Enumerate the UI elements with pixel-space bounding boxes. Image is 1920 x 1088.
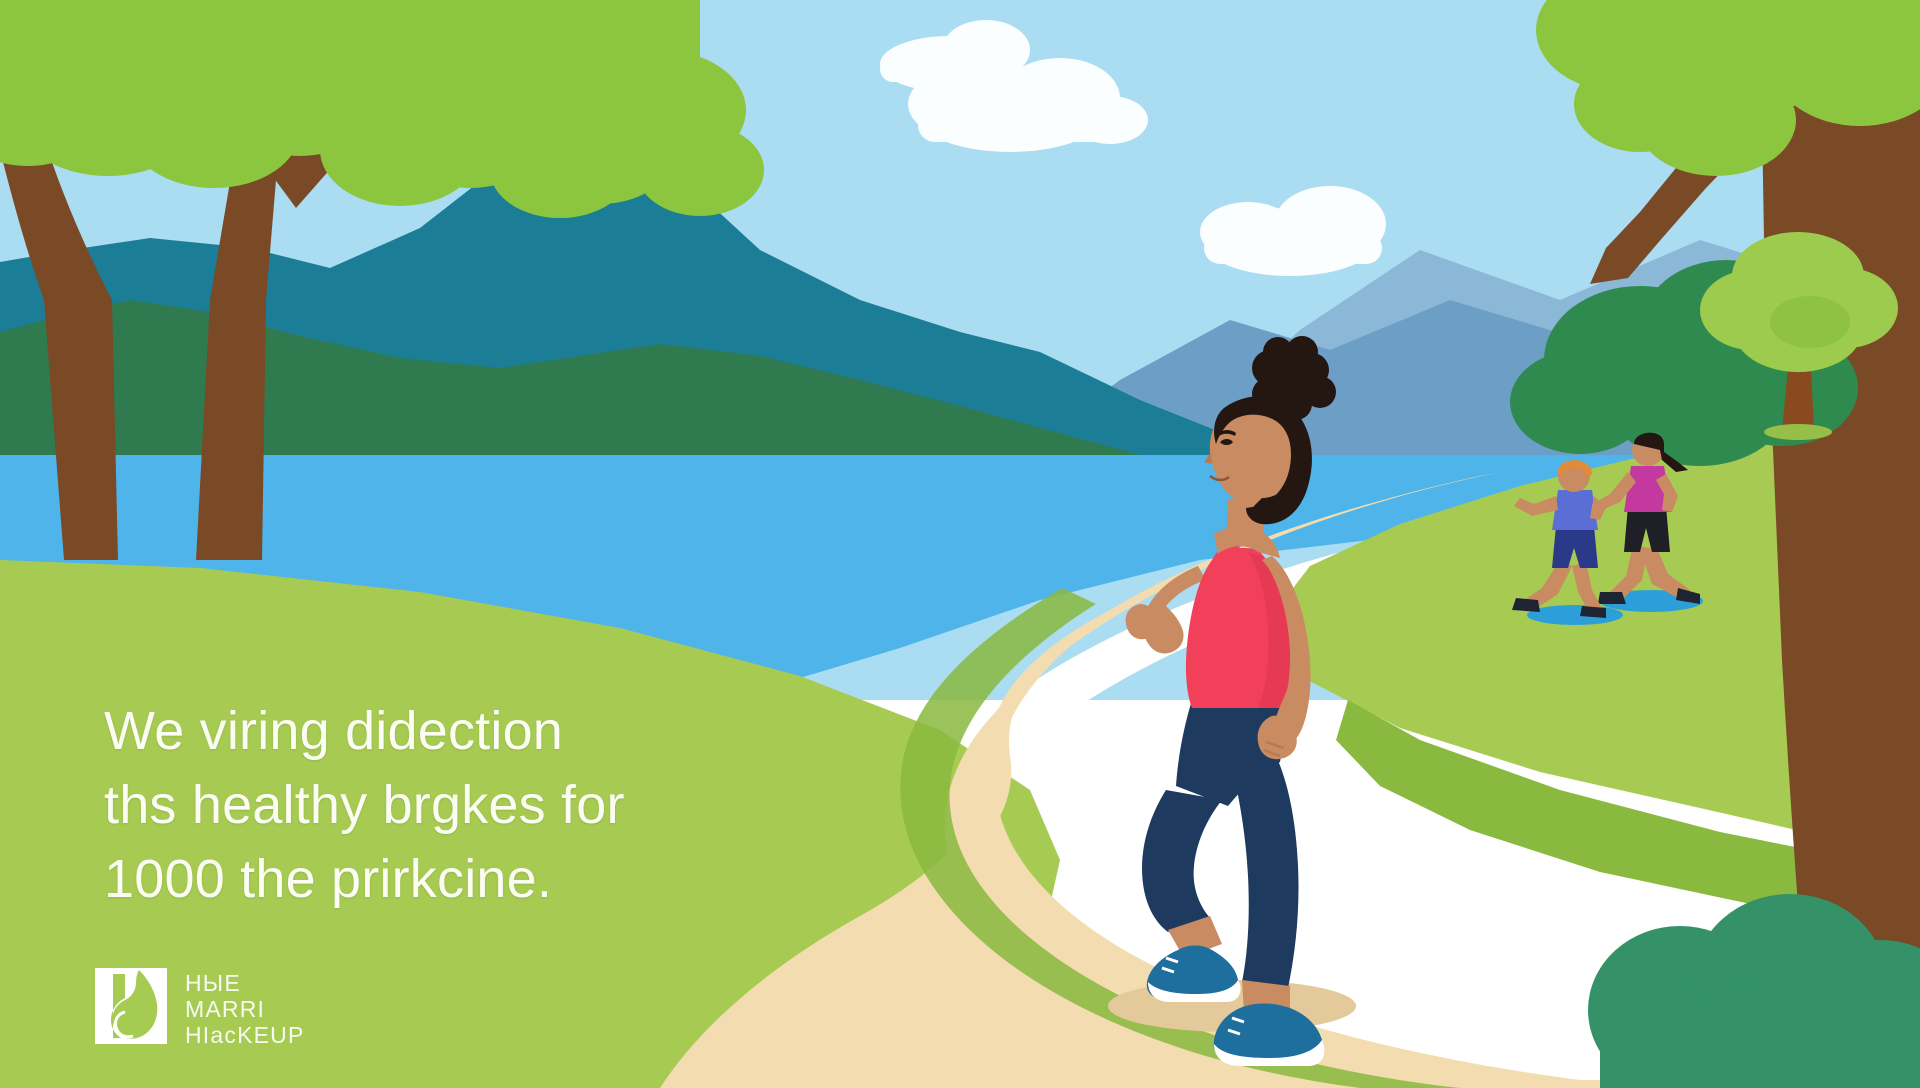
- headline-line-1: We viring didection: [104, 694, 764, 768]
- illustration-canvas: We viring didection ths healthy brgkes f…: [0, 0, 1920, 1088]
- headline-text: We viring didection ths healthy brgkes f…: [104, 694, 764, 916]
- brand-logo-text: HЫE MARRI HIacKEUP: [185, 968, 305, 1048]
- headline-line-3: 1000 the prirkcine.: [104, 842, 764, 916]
- logo-line-2: MARRI: [185, 996, 305, 1022]
- pear-leaf-logo-mark: [95, 968, 167, 1044]
- headline-line-2: ths healthy brgkes for: [104, 768, 764, 842]
- logo-line-3: HIacKEUP: [185, 1022, 305, 1048]
- small-tree-shadow: [1764, 424, 1832, 440]
- logo-line-1: HЫE: [185, 970, 305, 996]
- brand-logo[interactable]: HЫE MARRI HIacKEUP: [95, 968, 305, 1048]
- park-lake-illustration: [0, 0, 1920, 1088]
- runner-leg-front: [1232, 756, 1299, 988]
- runner-leg-back: [1142, 790, 1222, 932]
